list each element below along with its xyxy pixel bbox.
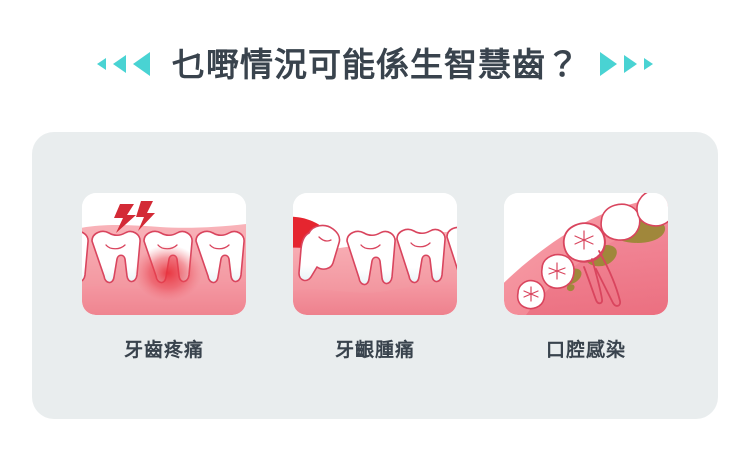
oral-infection-illustration (504, 193, 668, 315)
symptom-label-oral-infection: 口腔感染 (546, 335, 626, 362)
symptom-label-swollen-gum: 牙齦腫痛 (335, 335, 415, 362)
symptom-card-swollen-gum[interactable]: 牙齦腫痛 (293, 193, 457, 362)
arrow-left-large-icon (133, 52, 150, 76)
page-title: 乜嘢情況可能係生智慧齒？ (172, 48, 580, 81)
arrow-right-large-icon (600, 52, 617, 76)
symptom-card-list: 牙齒疼痛 (32, 132, 718, 419)
right-arrow-decoration (600, 52, 653, 76)
swollen-gum-illustration (293, 193, 457, 315)
symptom-card-tooth-pain[interactable]: 牙齒疼痛 (82, 193, 246, 362)
arrow-right-medium-icon (624, 55, 637, 73)
symptom-card-oral-infection[interactable]: 口腔感染 (504, 193, 668, 362)
arrow-left-small-icon (97, 58, 106, 70)
symptoms-panel: 牙齒疼痛 (32, 132, 718, 419)
left-arrow-decoration (97, 52, 150, 76)
tooth-pain-illustration (82, 193, 246, 315)
header: 乜嘢情況可能係生智慧齒？ (0, 36, 750, 92)
arrow-left-medium-icon (113, 55, 126, 73)
arrow-right-small-icon (644, 58, 653, 70)
symptom-label-tooth-pain: 牙齒疼痛 (124, 335, 204, 362)
